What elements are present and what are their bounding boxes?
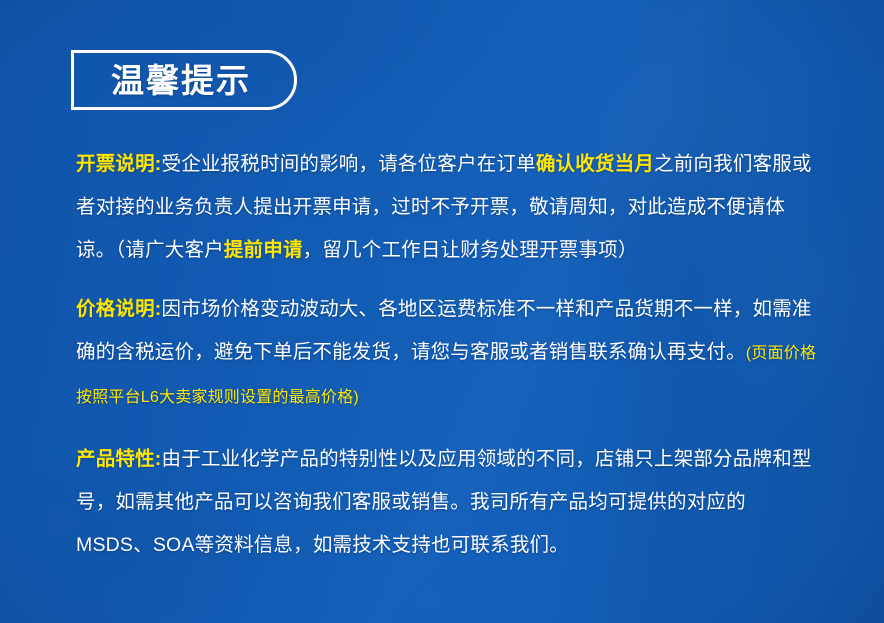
paragraph-lead-invoice: 开票说明: xyxy=(76,153,162,175)
paragraph-highlight: 提前申请 xyxy=(224,239,303,261)
paragraph-lead-price: 价格说明: xyxy=(76,298,162,320)
paragraph-highlight: 确认收货当月 xyxy=(536,153,654,175)
banner-content: 温馨提示 开票说明:受企业报税时间的影响，请各位客户在订单确认收货当月之前向我们… xyxy=(0,0,884,623)
title-badge: 温馨提示 xyxy=(71,50,297,110)
paragraph-text: ，留几个工作日让财务处理开票事项） xyxy=(303,239,638,261)
paragraph-text: 受企业报税时间的影响，请各位客户在订单 xyxy=(162,153,536,175)
promo-banner: 温馨提示 开票说明:受企业报税时间的影响，请各位客户在订单确认收货当月之前向我们… xyxy=(0,0,884,623)
page-title: 温馨提示 xyxy=(111,64,257,97)
paragraph-text: 由于工业化学产品的特别性以及应用领域的不同，店铺只上架部分品牌和型号，如需其他产… xyxy=(76,448,812,556)
paragraph-product-features: 产品特性:由于工业化学产品的特别性以及应用领域的不同，店铺只上架部分品牌和型号，… xyxy=(76,438,818,567)
paragraph-text: 因市场价格变动波动大、各地区运费标准不一样和产品货期不一样，如需准确的含税运价，… xyxy=(76,298,812,363)
paragraph-invoice-notice: 开票说明:受企业报税时间的影响，请各位客户在订单确认收货当月之前向我们客服或者对… xyxy=(76,143,818,272)
paragraph-lead-features: 产品特性: xyxy=(76,448,162,470)
paragraph-price-notice: 价格说明:因市场价格变动波动大、各地区运费标准不一样和产品货期不一样，如需准确的… xyxy=(76,288,818,419)
